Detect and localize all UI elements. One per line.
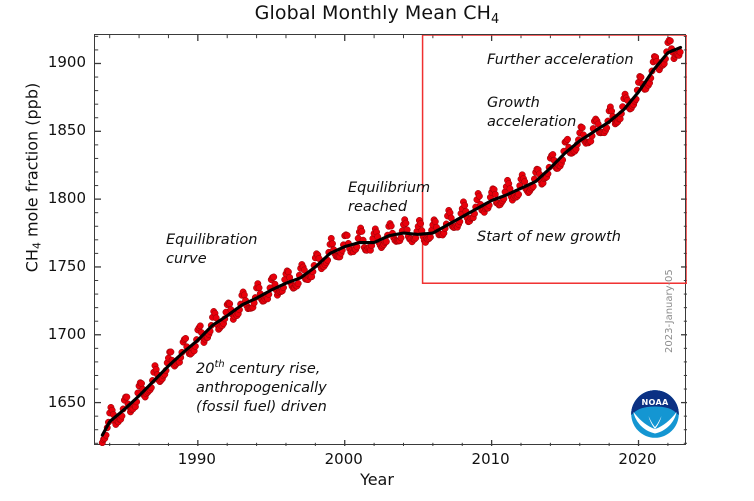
chart-figure: Global Monthly Mean CH4 CH4 mole fractio…	[0, 0, 754, 501]
page-title: Global Monthly Mean CH4	[0, 2, 754, 24]
svg-text:NOAA: NOAA	[641, 397, 669, 407]
y-axis-tick-labels: 165017001750180018501900	[22, 34, 86, 445]
annotation-start-of-new-growth: Start of new growth	[477, 228, 621, 247]
x-tick-label: 2020	[598, 450, 678, 468]
noaa-logo-icon: NOAA	[628, 387, 682, 441]
x-tick-label: 1990	[157, 450, 237, 468]
annotation-twentieth-century-rise: 20th century rise,anthropogenically(foss…	[196, 360, 327, 417]
date-stamp: 2023-January-05	[664, 269, 675, 353]
ordinal-suffix: th	[214, 359, 224, 370]
x-tick-label: 2000	[304, 450, 384, 468]
y-tick-label: 1750	[26, 257, 86, 275]
y-tick-label: 1800	[26, 189, 86, 207]
annotation-growth-acceleration: Growth acceleration	[487, 94, 576, 132]
annotation-further-acceleration: Further acceleration	[487, 51, 634, 70]
chart-title-text: Global Monthly Mean CH	[255, 2, 491, 24]
y-tick-label: 1650	[26, 393, 86, 411]
y-tick-label: 1700	[26, 325, 86, 343]
y-tick-label: 1900	[26, 53, 86, 71]
x-tick-label: 2010	[451, 450, 531, 468]
chart-title-subscript: 4	[491, 12, 499, 27]
x-axis-label: Year	[0, 470, 754, 489]
x-axis-tick-labels: 1990200020102020	[94, 450, 686, 472]
annotation-equilibration-curve: Equilibration curve	[166, 231, 257, 269]
annotation-equilibrium-reached: Equilibrium reached	[348, 179, 430, 217]
y-tick-label: 1850	[26, 121, 86, 139]
